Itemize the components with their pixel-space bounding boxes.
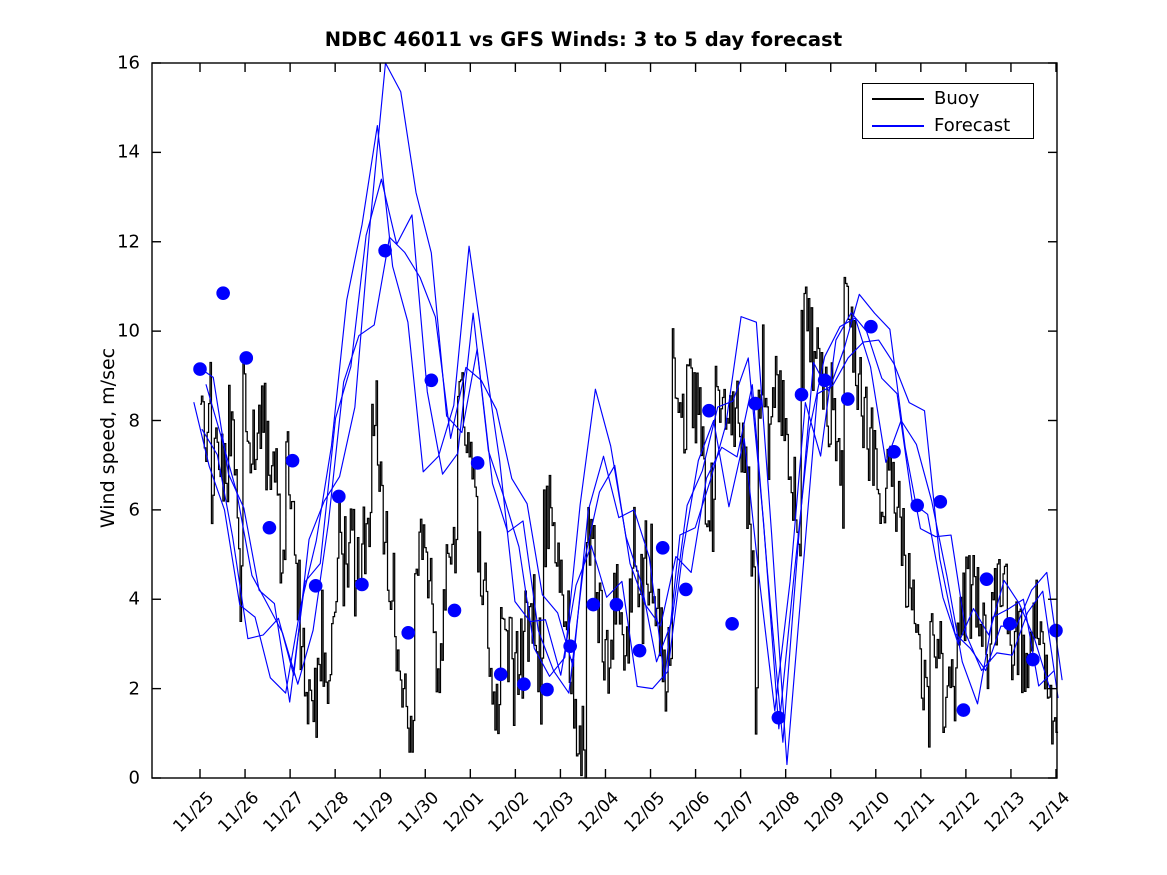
y-tick-label: 16 (100, 53, 140, 74)
forecast-marker (980, 573, 993, 586)
legend-label: Buoy (934, 90, 979, 108)
y-tick-label: 8 (100, 410, 140, 431)
forecast-marker (679, 583, 692, 596)
forecast-marker (286, 454, 299, 467)
forecast-marker (726, 617, 739, 630)
forecast-marker (448, 604, 461, 617)
forecast-marker (749, 397, 762, 410)
forecast-marker (911, 499, 924, 512)
forecast-marker (425, 374, 438, 387)
forecast-marker (702, 404, 715, 417)
forecast-marker (194, 363, 207, 376)
forecast-marker (471, 456, 484, 469)
forecast-marker (1003, 617, 1016, 630)
forecast-marker (1050, 624, 1063, 637)
legend-item[interactable]: Forecast (863, 112, 1033, 140)
forecast-marker (1026, 653, 1039, 666)
forecast-marker (494, 668, 507, 681)
forecast-marker (517, 678, 530, 691)
y-tick-label: 14 (100, 142, 140, 163)
legend-item[interactable]: Buoy (863, 85, 1033, 113)
legend-line-swatch (872, 98, 924, 100)
forecast-marker (934, 495, 947, 508)
forecast-marker (263, 521, 276, 534)
forecast-marker (355, 578, 368, 591)
y-tick-label: 0 (100, 768, 140, 789)
forecast-marker (772, 711, 785, 724)
forecast-marker (633, 644, 646, 657)
forecast-marker (841, 393, 854, 406)
y-tick-label: 10 (100, 321, 140, 342)
figure-canvas: NDBC 46011 vs GFS Winds: 3 to 5 day fore… (0, 0, 1167, 875)
forecast-marker (957, 704, 970, 717)
forecast-marker (864, 320, 877, 333)
forecast-marker (818, 374, 831, 387)
forecast-marker (888, 445, 901, 458)
forecast-marker (587, 598, 600, 611)
forecast-marker (332, 490, 345, 503)
y-tick-label: 4 (100, 589, 140, 610)
forecast-marker (240, 351, 253, 364)
buoy-series (200, 278, 1057, 779)
forecast-marker (610, 598, 623, 611)
forecast-marker (656, 541, 669, 554)
y-tick-label: 6 (100, 499, 140, 520)
legend-label: Forecast (934, 117, 1010, 135)
forecast-marker (541, 683, 554, 696)
legend-line-swatch (872, 125, 924, 127)
forecast-marker (795, 388, 808, 401)
forecast-marker (402, 626, 415, 639)
forecast-marker (379, 244, 392, 257)
forecast-marker (309, 579, 322, 592)
y-tick-label: 2 (100, 678, 140, 699)
y-tick-label: 12 (100, 231, 140, 252)
forecast-marker (217, 287, 230, 300)
legend[interactable]: BuoyForecast (862, 83, 1034, 139)
forecast-marker (564, 640, 577, 653)
